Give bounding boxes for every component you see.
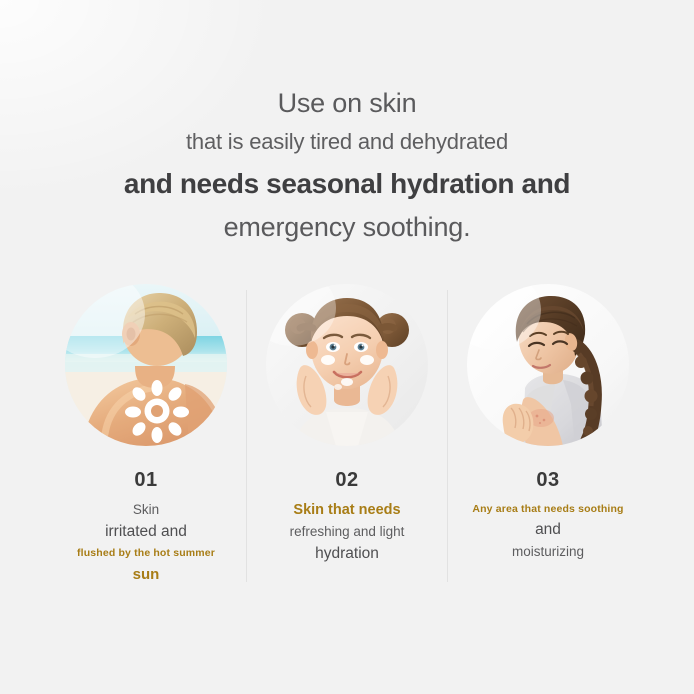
benefit-caption-3: 03 Any area that needs soothing and mois… [448, 468, 648, 563]
step-number-2: 02 [335, 468, 358, 492]
caption-line-3-3: moisturizing [512, 541, 584, 563]
benefit-columns: 01 Skin irritated and flushed by the hot… [0, 284, 694, 587]
caption-line-1-1: Skin [133, 499, 159, 521]
caption-line-2-1: Skin that needs [293, 499, 400, 521]
caption-line-1-3: flushed by the hot summer [77, 543, 215, 563]
caption-line-2-3: hydration [315, 543, 379, 565]
promo-panel: Use on skin that is easily tired and deh… [0, 0, 694, 694]
page-title: Use on skin that is easily tired and deh… [0, 0, 694, 248]
benefit-column-1: 01 Skin irritated and flushed by the hot… [46, 284, 246, 587]
headline-line-4: emergency soothing. [0, 206, 694, 248]
caption-line-3-1: Any area that needs soothing [472, 499, 623, 519]
photo-sunburned-child-icon [65, 284, 227, 446]
photo-girl-applying-cream-icon [266, 284, 428, 446]
step-number-3: 03 [536, 468, 559, 492]
benefit-caption-1: 01 Skin irritated and flushed by the hot… [46, 468, 246, 587]
benefit-column-3: 03 Any area that needs soothing and mois… [448, 284, 648, 563]
headline-line-2: that is easily tired and dehydrated [0, 122, 694, 162]
benefit-column-2: 02 Skin that needs refreshing and light … [247, 284, 447, 565]
step-number-1: 01 [134, 468, 157, 492]
photo-girl-scratching-arm-icon [467, 284, 629, 446]
headline-line-1: Use on skin [0, 84, 694, 122]
caption-line-1-2: irritated and [105, 521, 187, 543]
caption-line-2-2: refreshing and light [290, 521, 405, 543]
caption-line-3-2: and [535, 519, 561, 541]
headline-line-3: and needs seasonal hydration and [0, 162, 694, 206]
benefit-caption-2: 02 Skin that needs refreshing and light … [247, 468, 447, 565]
caption-line-1-4: sun [133, 563, 160, 587]
